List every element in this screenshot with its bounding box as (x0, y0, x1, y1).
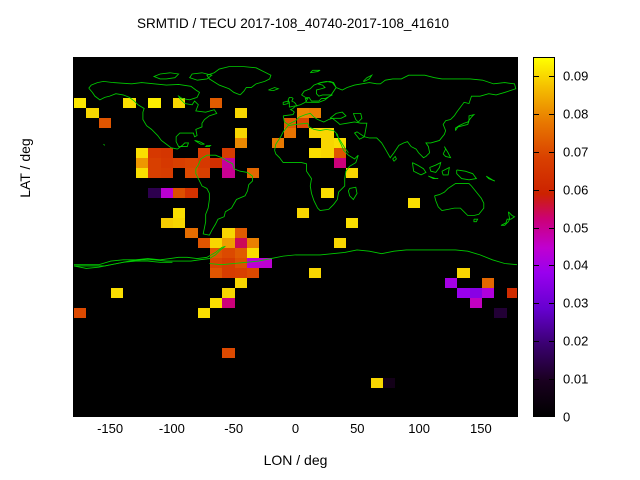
colorbar-tick-mark (533, 228, 539, 229)
heatmap-cell (222, 168, 234, 178)
colorbar-tick-label: 0 (563, 410, 570, 425)
heatmap-cell (136, 168, 148, 178)
heatmap-cell (309, 148, 321, 158)
heatmap-cell (297, 108, 309, 118)
heatmap-cell (346, 218, 358, 228)
heatmap-cell (247, 258, 259, 268)
heatmap-cell (74, 308, 86, 318)
heatmap-cell (148, 168, 160, 178)
heatmap-cell (470, 288, 482, 298)
colorbar-tick-label: 0.01 (563, 372, 588, 387)
x-tick-label: 150 (446, 421, 516, 436)
plot-area[interactable] (73, 57, 518, 417)
heatmap-cell (210, 248, 222, 258)
heatmap-cell (482, 288, 494, 298)
heatmap-cell (259, 258, 271, 268)
x-tick-label: -100 (137, 421, 207, 436)
heatmap-cell (210, 268, 222, 278)
colorbar-tick-label: 0.04 (563, 258, 588, 273)
colorbar-tick-label: 0.09 (563, 68, 588, 83)
heatmap-cell (136, 158, 148, 168)
heatmap-cell (235, 238, 247, 248)
colorbar-tick-label: 0.08 (563, 106, 588, 121)
colorbar[interactable] (533, 57, 555, 417)
heatmap-cell (222, 148, 234, 158)
heatmap-cell (173, 208, 185, 218)
colorbar-tick-label: 0.07 (563, 144, 588, 159)
heatmap-cell (161, 148, 173, 158)
heatmap-cell (99, 118, 111, 128)
colorbar-tick-mark (549, 379, 555, 380)
heatmap-cell (210, 298, 222, 308)
heatmap-cell (111, 288, 123, 298)
heatmap-cell (334, 148, 346, 158)
heatmap-cell (235, 258, 247, 268)
heatmap-cell (321, 148, 333, 158)
heatmap-cell (210, 98, 222, 108)
colorbar-tick-mark (533, 303, 539, 304)
heatmap-cell (235, 138, 247, 148)
heatmap-cell (309, 268, 321, 278)
colorbar-tick-mark (533, 341, 539, 342)
colorbar-tick-mark (549, 190, 555, 191)
heatmap-cell (210, 158, 222, 168)
heatmap-cell (309, 108, 321, 118)
heatmap-cell (445, 278, 457, 288)
heatmap-cell (284, 128, 296, 138)
heatmap-cell (235, 108, 247, 118)
heatmap-cell (173, 218, 185, 228)
heatmap-cell (222, 348, 234, 358)
x-tick-label: 0 (261, 421, 331, 436)
heatmap-cell (321, 138, 333, 148)
x-axis-label: LON / deg (73, 452, 518, 468)
heatmap-cell (222, 258, 234, 268)
heatmap-cell (210, 258, 222, 268)
heatmap-cell (185, 228, 197, 238)
heatmap-cell (161, 188, 173, 198)
heatmap-cell (297, 208, 309, 218)
heatmap-cell (482, 278, 494, 288)
heatmap-cell (235, 248, 247, 258)
colorbar-tick-mark (549, 303, 555, 304)
heatmap-cell (136, 148, 148, 158)
heatmap-cell (173, 188, 185, 198)
heatmap-cell (334, 138, 346, 148)
heatmap-cell (334, 238, 346, 248)
heatmap-cell (161, 168, 173, 178)
colorbar-tick-mark (533, 190, 539, 191)
heatmap-cell (235, 268, 247, 278)
heatmap-cell (222, 268, 234, 278)
colorbar-tick-mark (549, 341, 555, 342)
heatmap-cell (247, 248, 259, 258)
colorbar-tick-mark (549, 76, 555, 77)
heatmap-cells (74, 58, 517, 416)
heatmap-cell (494, 308, 506, 318)
heatmap-cell (235, 278, 247, 288)
colorbar-tick-mark (533, 265, 539, 266)
heatmap-cell (383, 378, 395, 388)
heatmap-cell (198, 238, 210, 248)
colorbar-tick-mark (533, 379, 539, 380)
heatmap-cell (222, 238, 234, 248)
heatmap-cell (74, 98, 86, 108)
heatmap-cell (173, 98, 185, 108)
colorbar-tick-label: 0.06 (563, 182, 588, 197)
heatmap-cell (408, 198, 420, 208)
heatmap-cell (198, 158, 210, 168)
heatmap-cell (297, 118, 309, 128)
colorbar-tick-mark (533, 114, 539, 115)
heatmap-cell (235, 228, 247, 238)
heatmap-cell (309, 128, 321, 138)
colorbar-tick-mark (549, 152, 555, 153)
heatmap-cell (321, 188, 333, 198)
heatmap-cell (123, 98, 135, 108)
heatmap-cell (148, 188, 160, 198)
colorbar-tick-label: 0.05 (563, 220, 588, 235)
heatmap-cell (185, 168, 197, 178)
heatmap-cell (247, 268, 259, 278)
heatmap-cell (247, 238, 259, 248)
heatmap-cell (148, 148, 160, 158)
heatmap-cell (507, 288, 518, 298)
heatmap-cell (371, 378, 383, 388)
heatmap-cell (173, 158, 185, 168)
heatmap-cell (86, 108, 98, 118)
y-axis-label: LAT / deg (17, 108, 33, 228)
heatmap-cell (185, 158, 197, 168)
heatmap-cell (148, 158, 160, 168)
colorbar-tick-label: 0.03 (563, 296, 588, 311)
heatmap-cell (284, 118, 296, 128)
x-tick-label: -150 (75, 421, 145, 436)
colorbar-tick-mark (549, 114, 555, 115)
heatmap-cell (272, 138, 284, 148)
page-title: SRMTID / TECU 2017-108_40740-2017-108_41… (0, 16, 586, 31)
heatmap-cell (346, 168, 358, 178)
heatmap-cell (198, 168, 210, 178)
heatmap-cell (210, 238, 222, 248)
heatmap-cell (235, 128, 247, 138)
figure-root: SRMTID / TECU 2017-108_40740-2017-108_41… (0, 0, 640, 480)
heatmap-cell (222, 298, 234, 308)
colorbar-tick-mark (549, 265, 555, 266)
heatmap-cell (222, 288, 234, 298)
heatmap-cell (321, 128, 333, 138)
heatmap-cell (222, 228, 234, 238)
heatmap-cell (148, 98, 160, 108)
heatmap-cell (198, 308, 210, 318)
heatmap-cell (334, 158, 346, 168)
colorbar-tick-mark (549, 228, 555, 229)
heatmap-cell (161, 218, 173, 228)
heatmap-cell (198, 148, 210, 158)
colorbar-tick-mark (533, 76, 539, 77)
heatmap-cell (457, 268, 469, 278)
x-tick-label: 50 (322, 421, 392, 436)
colorbar-tick-label: 0.02 (563, 334, 588, 349)
x-tick-label: -50 (199, 421, 269, 436)
heatmap-cell (185, 188, 197, 198)
heatmap-cell (222, 248, 234, 258)
heatmap-cell (470, 298, 482, 308)
heatmap-cell (161, 158, 173, 168)
heatmap-cell (457, 288, 469, 298)
heatmap-cell (247, 168, 259, 178)
x-tick-label: 100 (384, 421, 454, 436)
heatmap-cell (222, 158, 234, 168)
colorbar-tick-mark (533, 152, 539, 153)
